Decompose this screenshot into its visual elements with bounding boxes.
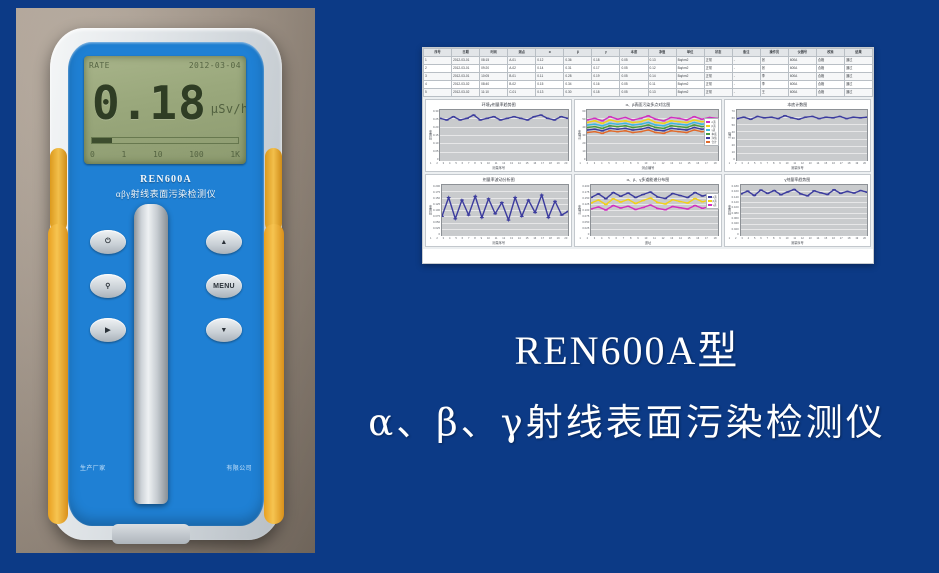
table-row[interactable]: 52012-03-0211:10C-010.130.300.180.050.13…: [424, 89, 873, 97]
x-axis-label: 测量序号: [426, 240, 571, 246]
table-cell: 08:15: [480, 57, 508, 65]
menu-button[interactable]: MENU: [206, 274, 242, 298]
lcd-status-left: RATE: [89, 61, 110, 70]
data-point: [662, 120, 666, 122]
data-point: [506, 118, 510, 120]
legend-swatch: [706, 133, 710, 135]
table-cell: 0.05: [620, 73, 648, 81]
model-plate: REN600A αβγ射线表面污染检测仪: [68, 174, 264, 200]
data-point: [654, 132, 658, 134]
software-report-screenshot: 序号日期时间测点αβγ本底净值单位状态备注操作员仪器号校准结果 12012-03…: [422, 47, 874, 264]
y-tick: 0.100: [433, 208, 440, 212]
lcd-value: 0.18: [92, 80, 207, 126]
gridline: [737, 160, 867, 161]
data-point: [678, 207, 682, 209]
lcd-reading: 0.18 μSv/h: [92, 74, 242, 132]
data-point: [639, 128, 643, 130]
power-button[interactable]: ⏻: [90, 230, 126, 254]
chart-title: 剂量率波动分析图: [426, 175, 571, 184]
data-point: [818, 192, 822, 194]
table-cell: 600A: [788, 89, 816, 97]
data-point: [553, 119, 557, 121]
plot-area: 剂量率0.1800.1600.1400.1200.1000.0800.0600.…: [725, 184, 870, 237]
data-point: [664, 209, 668, 211]
data-point: [851, 116, 855, 118]
data-point: [526, 199, 530, 201]
lcd-scale-tick: 1: [121, 150, 126, 159]
data-point: [624, 125, 628, 127]
x-axis-label: 测点编号: [575, 165, 720, 171]
y-tick: 0.150: [582, 196, 589, 200]
data-point: [601, 120, 605, 122]
table-cell: 2012-03-01: [452, 57, 480, 65]
data-point: [601, 130, 605, 132]
play-icon: ▶: [105, 326, 111, 334]
lcd-scale: 01101001K: [90, 148, 240, 160]
table-cell: 0.36: [564, 57, 592, 65]
data-point: [631, 124, 635, 126]
y-tick: 0.15: [433, 133, 438, 137]
data-point: [677, 118, 681, 120]
data-point: [812, 190, 816, 192]
data-point: [772, 190, 776, 192]
data-point: [664, 198, 668, 200]
y-axis-ticks: 0.2000.1750.1500.1250.1000.0750.0500.025…: [433, 184, 441, 236]
series-line: [591, 198, 717, 205]
table-header-cell: γ: [592, 49, 620, 57]
data-point: [601, 123, 605, 125]
table-cell: 正常: [704, 65, 732, 73]
y-tick: 0.175: [433, 190, 440, 194]
data-point: [634, 197, 638, 199]
data-point: [805, 195, 809, 197]
table-cell: 0.11: [648, 81, 676, 89]
legend-swatch: [708, 196, 712, 198]
data-point: [634, 203, 638, 205]
data-point: [858, 117, 862, 119]
data-point: [755, 116, 759, 118]
table-cell: 2012-03-02: [452, 89, 480, 97]
table-cell: A-01: [508, 57, 536, 65]
table-cell: 0.34: [564, 81, 592, 89]
table-cell: 合格: [816, 57, 844, 65]
data-point: [678, 201, 682, 203]
data-point: [662, 133, 666, 135]
footer-label-left: 生产厂家: [80, 463, 106, 472]
table-cell: 0.05: [620, 81, 648, 89]
plot-area: 剂量率0.300.250.200.150.100.050: [426, 109, 571, 162]
legend-swatch: [706, 137, 710, 139]
table-header-cell: 测点: [508, 49, 536, 57]
y-tick: 0.100: [582, 208, 589, 212]
y-tick: 0: [433, 157, 438, 161]
data-point: [639, 123, 643, 125]
data-point: [639, 126, 643, 128]
table-header-cell: 单位: [676, 49, 704, 57]
data-point: [472, 114, 476, 116]
data-point: [601, 128, 605, 130]
y-tick: 0.125: [433, 202, 440, 206]
data-point: [852, 192, 856, 194]
radiation-detector-device: RATE 2012-03-04 0.18 μSv/h 01101001K REN…: [50, 28, 282, 540]
y-tick: 0.10: [433, 141, 438, 145]
chart-card: α、β、γ多道能谱分布图计数率0.2000.1750.1500.1250.100…: [574, 174, 721, 247]
data-point: [616, 126, 620, 128]
table-header-cell: 时间: [480, 49, 508, 57]
table-header-cell: 校准: [816, 49, 844, 57]
data-point: [693, 192, 697, 194]
data-point: [619, 195, 623, 197]
table-cell: 0.05: [620, 89, 648, 97]
slide-root: RATE 2012-03-04 0.18 μSv/h 01101001K REN…: [0, 0, 939, 573]
data-point: [608, 125, 612, 127]
data-point: [670, 128, 674, 130]
data-point: [631, 129, 635, 131]
y-tick: 20: [732, 143, 735, 147]
data-point: [560, 116, 564, 118]
down-button[interactable]: ▼: [206, 318, 242, 342]
y-axis-label: 剂量率: [427, 205, 433, 215]
table-cell: 4: [424, 81, 452, 89]
series-line: [442, 195, 568, 220]
table-row[interactable]: 42012-03-0208:40B-020.150.340.160.050.11…: [424, 81, 873, 89]
x-axis-label: 测量序号: [725, 165, 870, 171]
data-point: [803, 116, 807, 118]
y-tick: 0.020: [732, 227, 739, 231]
table-header-cell: 净值: [648, 49, 676, 57]
chart-legend: α道β道γ道: [706, 193, 719, 209]
grip-left: [48, 224, 68, 524]
data-point: [654, 118, 658, 120]
table-cell: 合格: [816, 89, 844, 97]
data-point: [608, 128, 612, 130]
data-point: [810, 116, 814, 118]
data-point: [624, 123, 628, 125]
plot-canvas: [590, 184, 718, 236]
data-point: [752, 195, 756, 197]
data-point: [837, 116, 841, 118]
table-cell: 0.14: [648, 73, 676, 81]
y-tick: 0.025: [433, 226, 440, 230]
y-tick: 50: [732, 123, 735, 127]
chart-title: 本底计数图: [725, 100, 870, 109]
data-point: [631, 122, 635, 124]
lcd-status-right: 2012-03-04: [189, 61, 241, 70]
table-cell: 正常: [704, 57, 732, 65]
y-tick: 60: [732, 116, 735, 120]
table-cell: B-01: [508, 73, 536, 81]
table-cell: 通过: [844, 57, 872, 65]
data-point: [693, 198, 697, 200]
table-header-cell: α: [536, 49, 564, 57]
chart-card: 剂量率波动分析图剂量率0.2000.1750.1500.1250.1000.07…: [425, 174, 572, 247]
table-cell: 正常: [704, 81, 732, 89]
data-point: [486, 118, 490, 120]
y-tick: 0: [433, 232, 440, 236]
table-cell: 0.12: [648, 65, 676, 73]
y-tick: 0: [732, 157, 735, 161]
data-point: [487, 198, 491, 200]
data-point: [817, 118, 821, 120]
legend-swatch: [706, 141, 710, 143]
up-button[interactable]: ▲: [206, 230, 242, 254]
table-cell: 1: [424, 57, 452, 65]
table-cell: 2012-03-01: [452, 73, 480, 81]
table-cell: 王: [760, 89, 788, 97]
data-point: [619, 201, 623, 203]
data-point: [641, 200, 645, 202]
lcd-scale-tick: 0: [90, 150, 95, 159]
plot-canvas: [441, 184, 569, 236]
data-point: [593, 118, 597, 120]
y-axis-label: 计数率: [576, 205, 582, 215]
data-point: [654, 127, 658, 129]
data-point: [647, 115, 651, 117]
data-point: [685, 127, 689, 129]
data-point: [790, 117, 794, 119]
table-cell: -: [732, 57, 760, 65]
y-tick: 0.200: [433, 184, 440, 188]
chart-legend: α道β道γ道本底净值合计: [704, 118, 718, 146]
up-arrow-icon: ▲: [220, 239, 227, 246]
data-point: [796, 118, 800, 120]
table-cell: 0.28: [564, 73, 592, 81]
table-cell: 0.05: [620, 57, 648, 65]
data-point: [831, 117, 835, 119]
table-cell: 正常: [704, 73, 732, 81]
data-point: [616, 121, 620, 123]
data-point: [649, 197, 653, 199]
y-axis-label: 计数率: [576, 130, 582, 140]
data-point: [601, 125, 605, 127]
y-tick: 0.125: [582, 202, 589, 206]
table-cell: 0.11: [536, 73, 564, 81]
plot-area: 剂量率0.2000.1750.1500.1250.1000.0750.0500.…: [426, 184, 571, 237]
table-cell: 2012-03-01: [452, 65, 480, 73]
data-point: [624, 128, 628, 130]
data-point: [460, 199, 464, 201]
plot-area: 计数率0.2000.1750.1500.1250.1000.0750.0500.…: [575, 184, 720, 237]
legend-swatch: [706, 121, 710, 123]
data-point: [533, 116, 537, 118]
table-cell: 600A: [788, 81, 816, 89]
series-line: [440, 115, 568, 120]
chart-title: 环境γ剂量率趋势图: [426, 100, 571, 109]
table-header-cell: 序号: [424, 49, 452, 57]
data-point: [824, 116, 828, 118]
data-point: [686, 202, 690, 204]
plot-area: 计数率6050403020100: [575, 109, 720, 162]
grip-right: [264, 224, 284, 524]
grip-top-right: [265, 148, 282, 232]
table-cell: 通过: [844, 81, 872, 89]
data-point: [452, 116, 456, 118]
data-point: [647, 127, 651, 129]
gridline: [442, 235, 568, 236]
y-tick: 0.025: [582, 226, 589, 230]
product-photo: RATE 2012-03-04 0.18 μSv/h 01101001K REN…: [16, 8, 315, 553]
lcd-scale-tick: 10: [153, 150, 163, 159]
data-point: [693, 205, 697, 207]
table-cell: 0.19: [592, 73, 620, 81]
data-point: [631, 119, 635, 121]
data-point: [742, 116, 746, 118]
y-tick: 0.200: [582, 184, 589, 188]
y-tick: 0.30: [433, 109, 438, 113]
table-cell: 0.12: [536, 57, 564, 65]
data-point: [447, 197, 451, 199]
y-tick: 40: [732, 130, 735, 134]
play-button[interactable]: ▶: [90, 318, 126, 342]
table-cell: A-02: [508, 65, 536, 73]
device-foot: [112, 524, 190, 544]
y-tick: 10: [732, 150, 735, 154]
data-point: [624, 120, 628, 122]
data-point: [624, 117, 628, 119]
data-point: [626, 205, 630, 207]
table-header-cell: 本底: [620, 49, 648, 57]
data-point: [593, 131, 597, 133]
table-row[interactable]: 12012-03-0108:15A-010.120.360.180.050.13…: [424, 57, 873, 65]
legend-label: 合计: [711, 140, 716, 144]
x-axis-label: 道址: [575, 240, 720, 246]
y-axis-ticks: 0.1800.1600.1400.1200.1000.0800.0600.040…: [732, 184, 740, 236]
data-point: [701, 195, 705, 197]
data-point: [671, 199, 675, 201]
data-point: [670, 125, 674, 127]
data-point: [520, 215, 524, 217]
data-point: [670, 130, 674, 132]
data-point: [845, 191, 849, 193]
data-point: [593, 123, 597, 125]
data-point: [616, 131, 620, 133]
data-point: [693, 129, 697, 131]
x-axis-label: 测量序号: [426, 165, 571, 171]
data-point: [685, 124, 689, 126]
data-point: [512, 116, 516, 118]
data-point: [533, 212, 537, 214]
data-point: [647, 129, 651, 131]
search-button[interactable]: ⚲: [90, 274, 126, 298]
lcd-scale-tick: 1K: [230, 150, 240, 159]
data-point: [459, 119, 463, 121]
table-header-cell: β: [564, 49, 592, 57]
legend-swatch: [706, 129, 710, 131]
data-point: [500, 202, 504, 204]
y-tick: 0.25: [433, 117, 438, 121]
table-cell: 5: [424, 89, 452, 97]
model-name: REN600A: [68, 174, 264, 185]
series-layer: [440, 110, 568, 160]
data-point: [693, 122, 697, 124]
table-cell: 李: [760, 73, 788, 81]
data-point: [685, 129, 689, 131]
table-header-cell: 状态: [704, 49, 732, 57]
y-tick: 50: [582, 117, 585, 121]
table-cell: Bq/cm2: [676, 57, 704, 65]
table-cell: 600A: [788, 73, 816, 81]
y-tick: 40: [582, 125, 585, 129]
table-cell: 正常: [704, 89, 732, 97]
data-point: [453, 218, 457, 220]
y-tick: 0.180: [732, 184, 739, 188]
data-point: [662, 128, 666, 130]
data-point: [685, 122, 689, 124]
y-tick: 0.175: [582, 190, 589, 194]
legend-entry: γ道: [708, 203, 717, 207]
data-point: [593, 128, 597, 130]
data-point: [685, 132, 689, 134]
data-point: [745, 190, 749, 192]
data-point: [686, 197, 690, 199]
data-point: [493, 213, 497, 215]
data-point: [546, 118, 550, 120]
legend-entry: 合计: [706, 140, 716, 144]
y-tick: 0: [582, 157, 585, 161]
data-point: [677, 128, 681, 130]
data-point: [593, 120, 597, 122]
title-block: REN600A型 α、β、γ射线表面污染检测仪: [322, 318, 932, 446]
y-axis-label: 计数: [726, 132, 732, 138]
y-tick: 10: [582, 149, 585, 153]
table-row[interactable]: 32012-03-0110:05B-010.110.280.190.050.14…: [424, 73, 873, 81]
table-cell: 3: [424, 73, 452, 81]
data-point: [654, 129, 658, 131]
data-point: [858, 190, 862, 192]
lcd-unit: μSv/h: [211, 102, 246, 116]
data-point: [844, 118, 848, 120]
data-point: [539, 114, 543, 116]
data-point: [492, 116, 496, 118]
data-point: [785, 191, 789, 193]
power-icon: ⏻: [105, 238, 111, 246]
plot-canvas: [439, 109, 569, 161]
table-cell: -: [732, 81, 760, 89]
table-row[interactable]: 22012-03-0109:20A-020.140.310.170.050.12…: [424, 65, 873, 73]
plot-area: 计数706050403020100: [725, 109, 870, 162]
gridline: [741, 235, 867, 236]
data-point: [647, 118, 651, 120]
y-axis-ticks: 0.2000.1750.1500.1250.1000.0750.0500.025…: [582, 184, 590, 236]
table-cell: -: [732, 89, 760, 97]
series-line: [591, 205, 717, 210]
model-subtitle: αβγ射线表面污染检测仪: [68, 187, 264, 200]
table-cell: Bq/cm2: [676, 81, 704, 89]
data-point: [506, 219, 510, 221]
table-header-cell: 结果: [844, 49, 872, 57]
data-point: [519, 118, 523, 120]
table-cell: 11:10: [480, 89, 508, 97]
menu-label: MENU: [213, 283, 235, 290]
series-layer: [737, 110, 867, 160]
data-point: [639, 121, 643, 123]
y-tick: 0.075: [582, 214, 589, 218]
table-cell: 600A: [788, 65, 816, 73]
data-point: [656, 208, 660, 210]
data-point: [662, 123, 666, 125]
series-layer: [442, 185, 568, 235]
data-point: [619, 207, 623, 209]
data-point: [832, 189, 836, 191]
data-point: [792, 189, 796, 191]
data-point: [662, 130, 666, 132]
y-tick: 0.150: [433, 196, 440, 200]
data-point: [671, 193, 675, 195]
table-cell: 0.15: [536, 81, 564, 89]
data-point: [769, 116, 773, 118]
table-cell: -: [732, 73, 760, 81]
table-cell: 0.14: [536, 65, 564, 73]
